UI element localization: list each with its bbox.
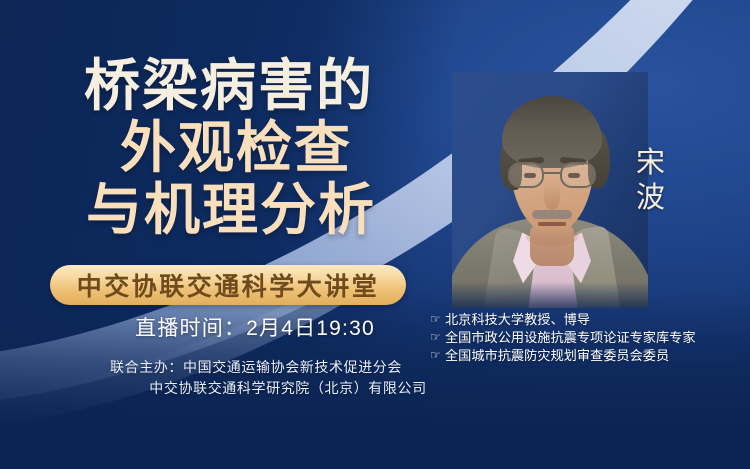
poster-title: 桥梁病害的 外观检查 与机理分析 [0,58,418,238]
glasses-lens-left [508,162,544,188]
credential-row: ☞ 全国城市抗震防灾规划审查委员会委员 [430,347,748,364]
credential-row: ☞ 北京科技大学教授、博导 [430,311,748,328]
glasses-bridge [544,172,560,174]
pointing-hand-icon: ☞ [430,347,444,364]
organizer-line-2: 中交协联交通科学研究院（北京）有限公司 [0,378,512,399]
speaker-name: 宋波 [628,146,674,217]
credential-row: ☞ 全国市政公用设施抗震专项论证专家库专家 [430,329,748,346]
series-banner-label: 中交协联交通科学大讲堂 [77,267,380,303]
title-line-3: 与机理分析 [86,182,418,238]
title-line-2: 外观检查 [120,120,418,176]
portrait-nose [544,184,560,210]
speaker-portrait [452,72,648,308]
series-banner: 中交协联交通科学大讲堂 [50,265,406,305]
title-line-1: 桥梁病害的 [84,58,418,114]
portrait-chin [526,228,578,246]
glasses-lens-right [560,162,596,188]
pointing-hand-icon: ☞ [430,311,444,328]
portrait-photo [452,72,648,308]
speaker-credentials: ☞ 北京科技大学教授、博导 ☞ 全国市政公用设施抗震专项论证专家库专家 ☞ 全国… [430,311,748,365]
credential-text: 全国市政公用设施抗震专项论证专家库专家 [445,329,696,346]
portrait-mouth [538,222,566,226]
pointing-hand-icon: ☞ [430,329,444,346]
credential-text: 全国城市抗震防灾规划审查委员会委员 [445,347,669,364]
portrait-bottom-fade [452,282,648,308]
webinar-poster: 宋波 桥梁病害的 外观检查 与机理分析 中交协联交通科学大讲堂 直播时间：2月4… [0,0,750,469]
portrait-moustache [532,210,572,219]
credential-text: 北京科技大学教授、博导 [445,311,590,328]
